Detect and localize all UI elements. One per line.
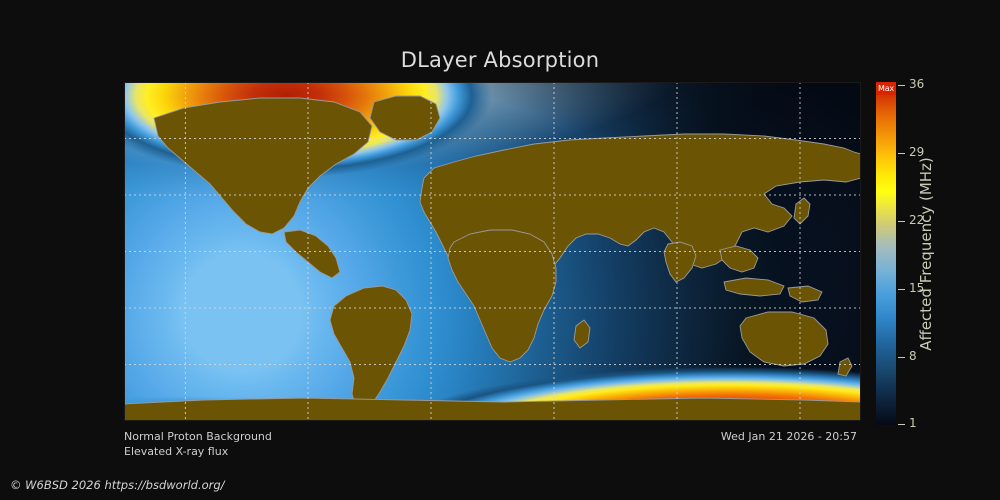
tick-mark-icon: [898, 289, 905, 290]
colorbar-axis-label: Affected Frequency (MHz): [915, 82, 937, 425]
credit-line: © W6BSD 2026 https://bsdworld.org/: [10, 478, 225, 492]
map-border: [124, 82, 861, 421]
tick-mark-icon: [898, 221, 905, 222]
timestamp: Wed Jan 21 2026 - 20:57: [721, 430, 857, 443]
status-block: Normal Proton Background Elevated X-ray …: [124, 429, 272, 459]
colorbar-max-label: Max: [876, 82, 896, 95]
app-root: DLayer Absorption: [0, 0, 1000, 500]
status-xray-flux: Elevated X-ray flux: [124, 444, 272, 459]
status-proton-background: Normal Proton Background: [124, 429, 272, 444]
colorbar[interactable]: Max: [876, 82, 896, 425]
world-map[interactable]: [124, 82, 861, 421]
tick-mark-icon: [898, 85, 905, 86]
tick-mark-icon: [898, 357, 905, 358]
tick-mark-icon: [898, 153, 905, 154]
colorbar-gradient: [876, 82, 896, 425]
page-title: DLayer Absorption: [0, 48, 1000, 72]
tick-mark-icon: [898, 424, 905, 425]
